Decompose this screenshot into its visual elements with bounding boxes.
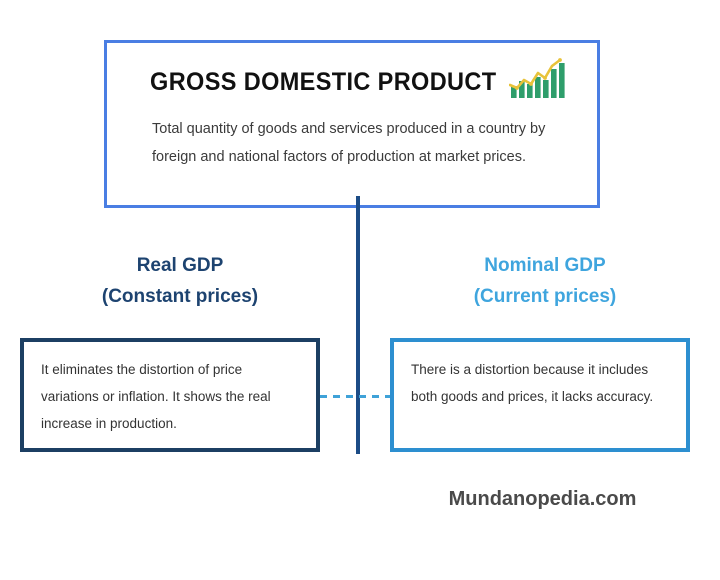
page-title: GROSS DOMESTIC PRODUCT	[150, 68, 496, 97]
real-gdp-info-box: It eliminates the distortion of price va…	[20, 338, 320, 452]
nominal-gdp-heading: Nominal GDP (Current prices)	[400, 250, 690, 312]
gdp-description: Total quantity of goods and services pro…	[152, 115, 572, 171]
real-gdp-heading-line2: (Constant prices)	[35, 281, 325, 312]
source-attribution: Mundanopedia.com	[400, 488, 685, 511]
infographic-canvas: GROSS DOMESTIC PRODUCT To	[0, 0, 720, 580]
real-gdp-heading: Real GDP (Constant prices)	[35, 250, 325, 312]
gdp-definition-card: GROSS DOMESTIC PRODUCT To	[104, 40, 600, 208]
gdp-title-row: GROSS DOMESTIC PRODUCT	[107, 59, 597, 105]
dotted-connector-line	[320, 395, 394, 398]
nominal-gdp-heading-line2: (Current prices)	[400, 281, 690, 312]
nominal-gdp-info-box: There is a distortion because it include…	[390, 338, 690, 452]
bar-chart-growth-icon	[509, 58, 565, 103]
real-gdp-heading-line1: Real GDP	[35, 250, 325, 281]
vertical-connector-line	[356, 196, 360, 454]
real-gdp-body-text: It eliminates the distortion of price va…	[41, 356, 303, 437]
nominal-gdp-heading-line1: Nominal GDP	[400, 250, 690, 281]
nominal-gdp-body-text: There is a distortion because it include…	[411, 356, 673, 410]
